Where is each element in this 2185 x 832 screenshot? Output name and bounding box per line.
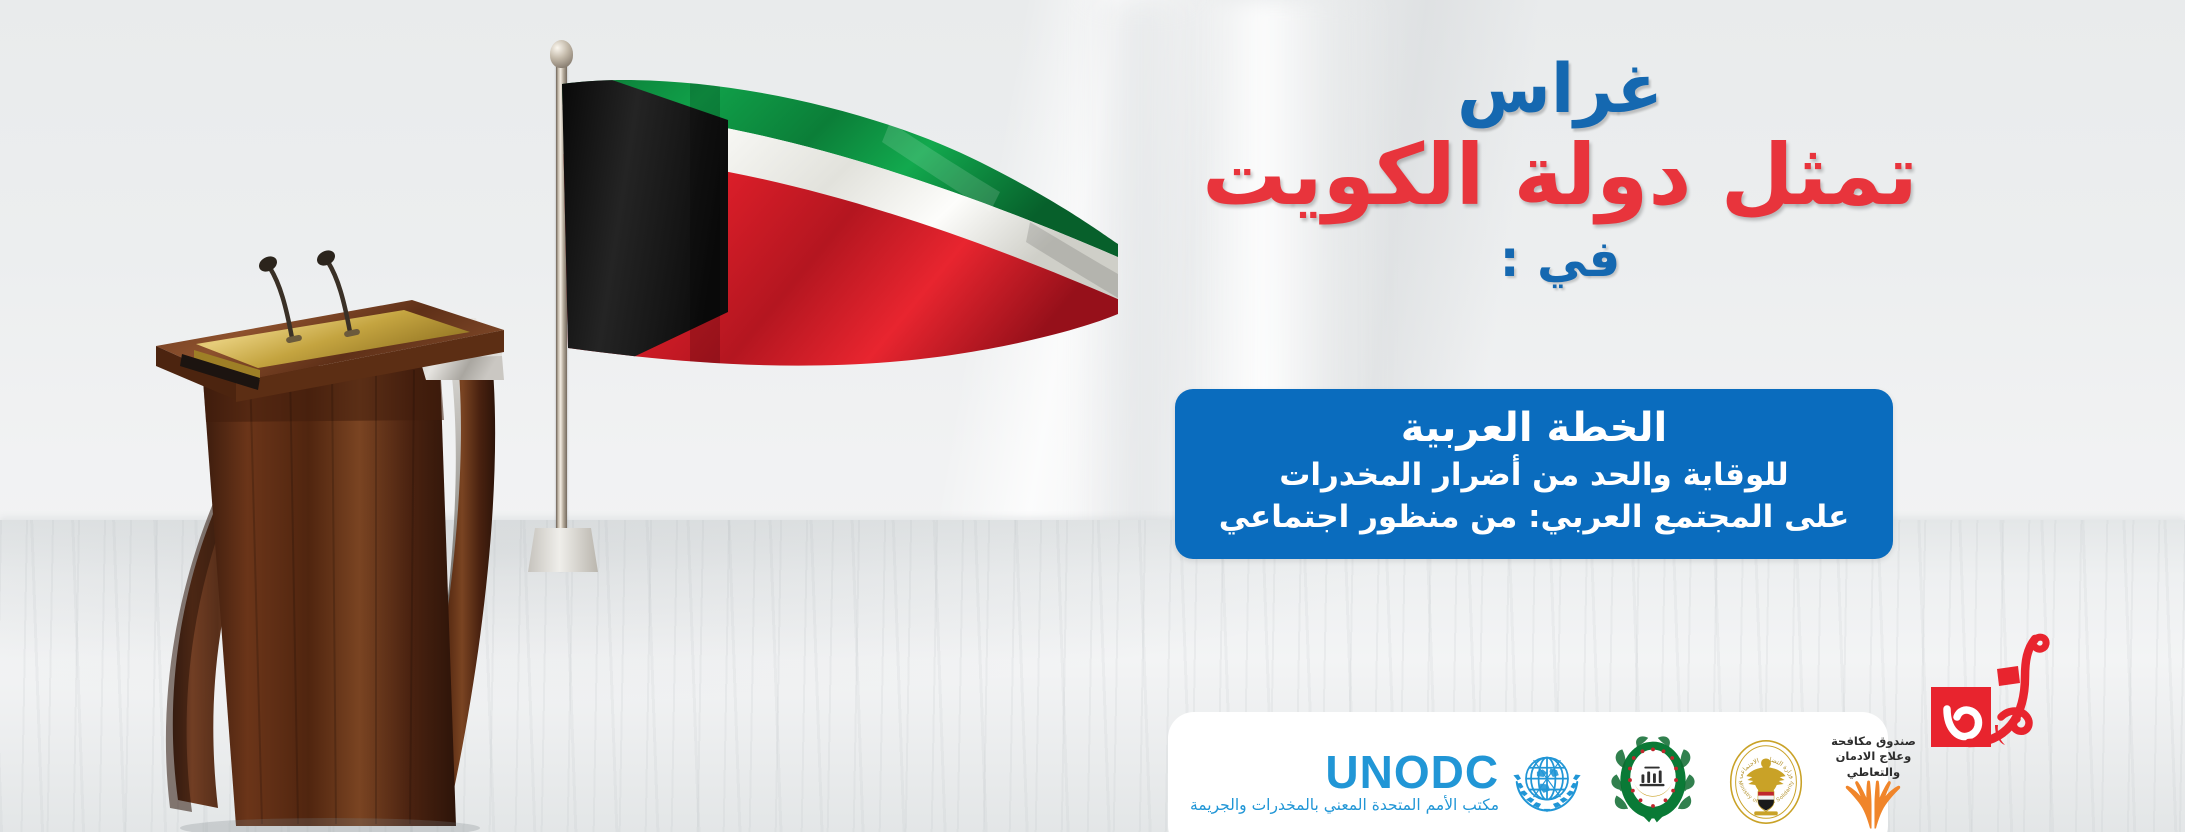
unodc-text-block: UNODC مكتب الأمم المتحدة المعني بالمخدرا… bbox=[1190, 750, 1499, 814]
un-globe-laurel-icon bbox=[1505, 740, 1589, 824]
unodc-logo: UNODC مكتب الأمم المتحدة المعني بالمخدرا… bbox=[1190, 740, 1589, 824]
unodc-acronym: UNODC bbox=[1325, 750, 1499, 794]
addiction-fund-hands-icon bbox=[1836, 780, 1910, 830]
headline-main: تمثل دولة الكويت bbox=[1130, 126, 1990, 225]
plan-subtitle-line-1: للوقاية والحد من أضرار المخدرات bbox=[1201, 455, 1867, 497]
addiction-fund-line-2: وعلاج الادمان bbox=[1836, 749, 1912, 763]
egypt-ministry-logo: وزارة التضامن الاجتماعي Ministry of Soci… bbox=[1717, 733, 1815, 831]
unodc-arabic-name: مكتب الأمم المتحدة المعني بالمخدرات والج… bbox=[1190, 796, 1499, 814]
addiction-fund-line-3: والتعاطي bbox=[1847, 765, 1900, 779]
plan-title: الخطة العربية bbox=[1201, 403, 1867, 453]
headline-ghiras: غراس bbox=[1130, 52, 1990, 128]
partner-logo-bar: UNODC مكتب الأمم المتحدة المعني بالمخدرا… bbox=[1168, 712, 1888, 832]
addiction-fund-block: صندوق مكافحة وعلاج الادمان والتعاطي bbox=[1831, 734, 1916, 829]
arab-plan-box: الخطة العربية للوقاية والحد من أضرار الم… bbox=[1175, 389, 1893, 559]
plan-subtitle-line-2: على المجتمع العربي: من منظور اجتماعي bbox=[1201, 497, 1867, 539]
banner-root: غراس تمثل دولة الكويت في : الخطة العربية… bbox=[0, 0, 2185, 832]
headline-block: غراس تمثل دولة الكويت في : bbox=[1130, 52, 1990, 289]
addiction-fund-line-1: صندوق مكافحة bbox=[1831, 734, 1916, 748]
ghiras-calligraphy-logo bbox=[1925, 625, 2060, 760]
arab-league-emblem-icon bbox=[1605, 734, 1701, 830]
addiction-fund-logo: صندوق مكافحة وعلاج الادمان والتعاطي bbox=[1831, 734, 1916, 829]
arab-league-logo bbox=[1605, 734, 1701, 830]
headline-in: في : bbox=[1130, 229, 1990, 289]
egypt-ministry-social-solidarity-icon: وزارة التضامن الاجتماعي Ministry of Soci… bbox=[1717, 733, 1815, 831]
wooden-lectern bbox=[140, 240, 620, 832]
kuwait-flag-cloth-icon bbox=[560, 62, 1120, 392]
